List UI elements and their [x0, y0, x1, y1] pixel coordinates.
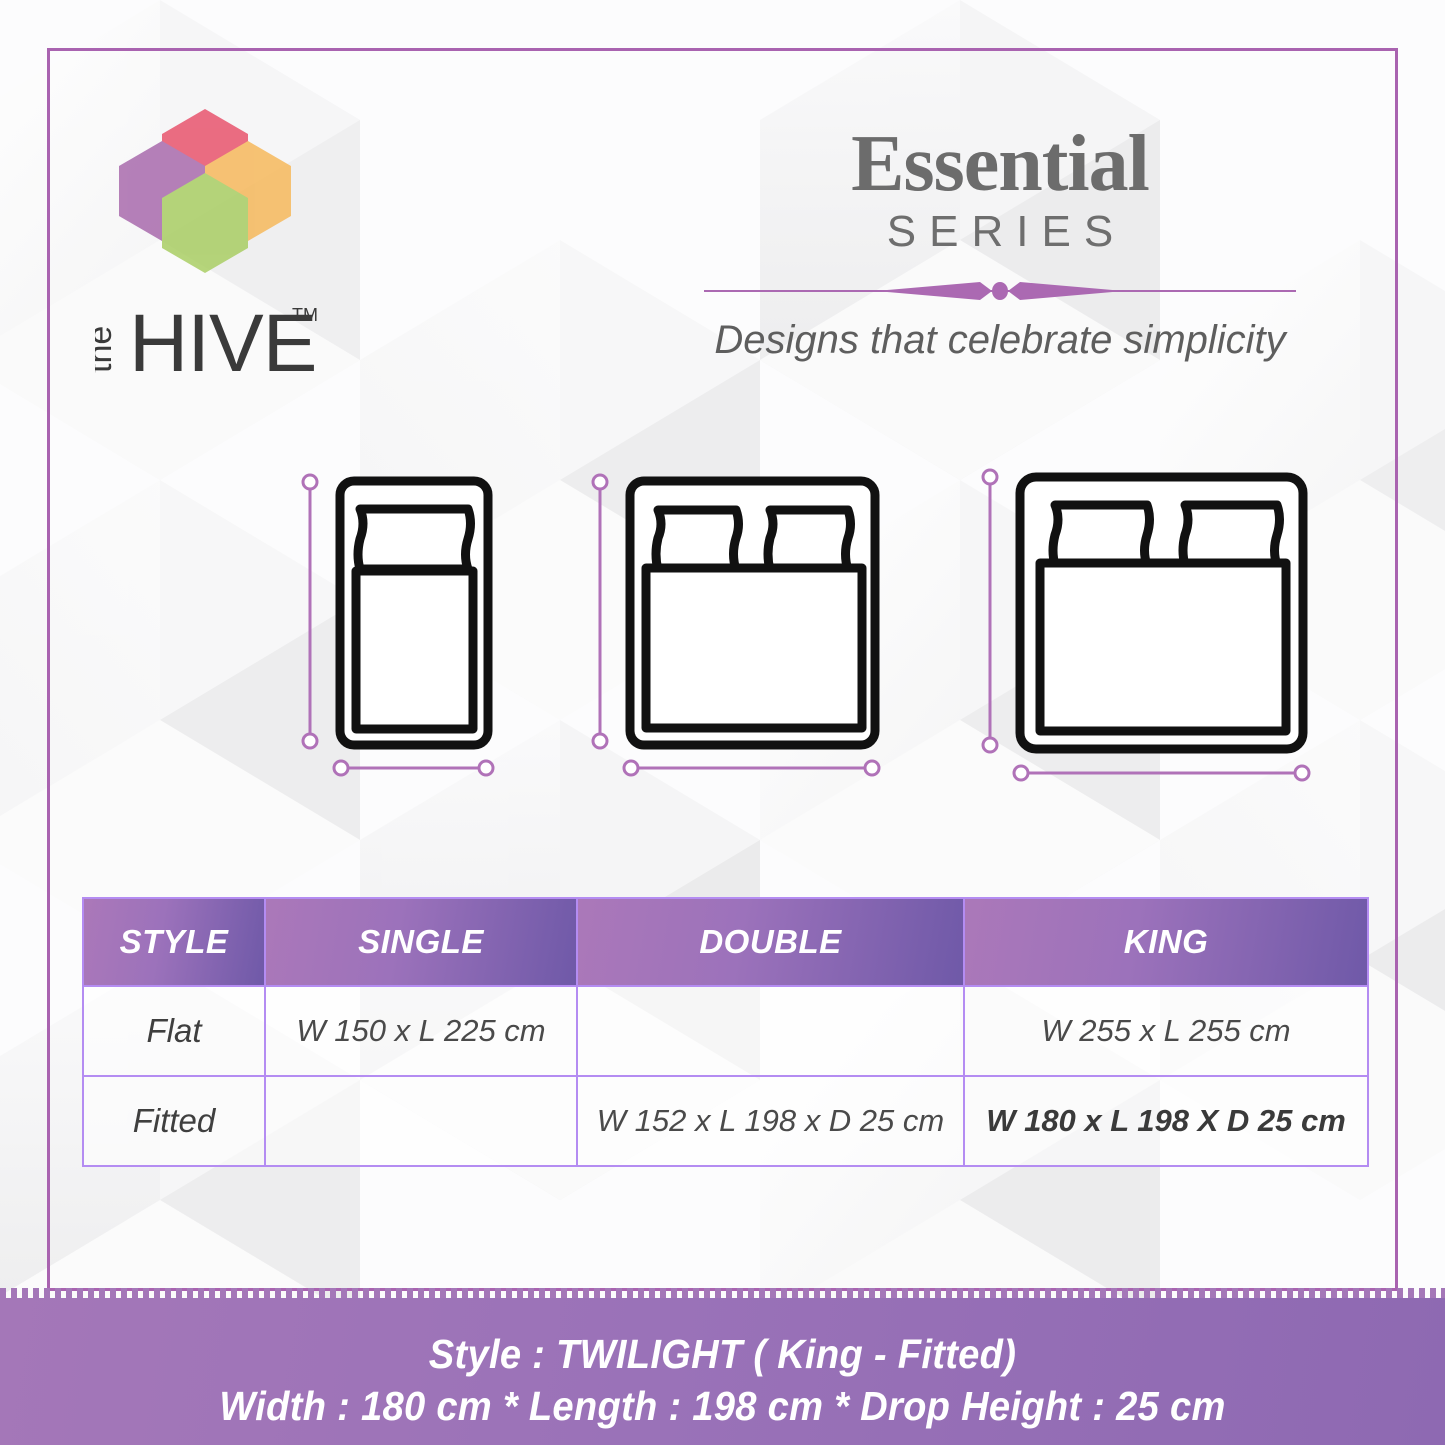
table-header-row: STYLE SINGLE DOUBLE KING [83, 898, 1368, 986]
king-bed-illustration [1020, 477, 1303, 749]
ornamental-divider-icon [700, 279, 1300, 303]
wordmark-tm: TM [292, 305, 318, 325]
brand-logo: the HIVE TM [95, 95, 395, 385]
bed-size-table: STYLE SINGLE DOUBLE KING Flat W 150 x L … [82, 897, 1369, 1167]
hive-wordmark: the HIVE TM [95, 291, 325, 381]
header-style: STYLE [83, 898, 265, 986]
banner-line-dimensions: Width : 180 cm * Length : 198 cm * Drop … [51, 1380, 1395, 1432]
single-height-dimension [303, 475, 317, 748]
cell-style-fitted: Fitted [83, 1076, 265, 1166]
hive-pinwheel-logo-icon [105, 95, 305, 295]
banner-text-block: Style : TWILIGHT ( King - Fitted) Width … [51, 1328, 1395, 1433]
banner-perforation-edge [0, 1288, 1445, 1298]
header-single: SINGLE [265, 898, 577, 986]
wordmark-main: HIVE [129, 298, 316, 381]
table-row: Flat W 150 x L 225 cm W 255 x L 255 cm [83, 986, 1368, 1076]
tagline: Designs that celebrate simplicity [690, 318, 1310, 363]
product-summary-banner: Style : TWILIGHT ( King - Fitted) Width … [0, 1298, 1445, 1445]
double-width-dimension [624, 761, 879, 775]
wordmark-prefix: the [95, 326, 119, 373]
banner-line-style: Style : TWILIGHT ( King - Fitted) [51, 1328, 1395, 1380]
cell-flat-king: W 255 x L 255 cm [964, 986, 1368, 1076]
header-king: KING [964, 898, 1368, 986]
double-bed-illustration [630, 481, 875, 745]
bed-size-illustrations [280, 455, 1340, 805]
cell-flat-double [577, 986, 964, 1076]
series-header: Essential SERIES Designs that celebrate … [690, 125, 1310, 363]
cell-flat-single: W 150 x L 225 cm [265, 986, 577, 1076]
series-subtitle: SERIES [690, 207, 1310, 257]
page-title: Essential [690, 125, 1310, 203]
king-height-dimension [983, 470, 997, 752]
table-row: Fitted W 152 x L 198 x D 25 cm W 180 x L… [83, 1076, 1368, 1166]
single-bed-illustration [340, 481, 488, 745]
cell-fitted-double: W 152 x L 198 x D 25 cm [577, 1076, 964, 1166]
cell-fitted-single [265, 1076, 577, 1166]
header-double: DOUBLE [577, 898, 964, 986]
king-width-dimension [1014, 766, 1309, 780]
double-height-dimension [593, 475, 607, 748]
cell-style-flat: Flat [83, 986, 265, 1076]
single-width-dimension [334, 761, 493, 775]
cell-fitted-king: W 180 x L 198 X D 25 cm [964, 1076, 1368, 1166]
